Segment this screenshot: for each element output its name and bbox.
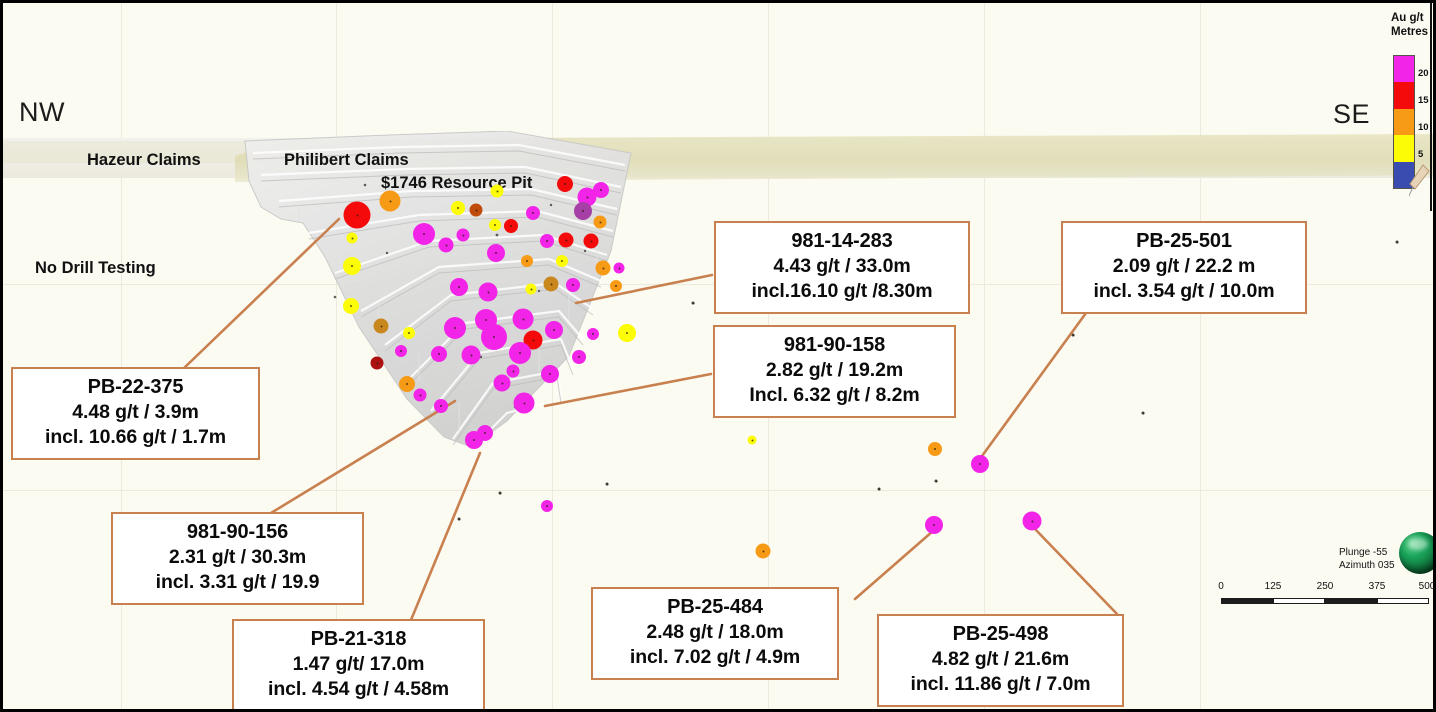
compass-plunge: Plunge -55: [1339, 547, 1387, 558]
scale-label-375: 375: [1369, 581, 1386, 592]
callout-title: PB-25-501: [1075, 228, 1293, 254]
drill-intercept-point: [559, 233, 574, 248]
callout-line2: 2.31 g/t / 30.3m: [125, 545, 350, 570]
callout-line2: 4.48 g/t / 3.9m: [25, 400, 246, 425]
legend-tick-15: 15: [1418, 95, 1429, 106]
callout-pb-22-375[interactable]: PB-22-375 4.48 g/t / 3.9m incl. 10.66 g/…: [11, 367, 260, 460]
drill-intercept-point: [489, 219, 501, 231]
callout-981-90-158[interactable]: 981-90-158 2.82 g/t / 19.2m Incl. 6.32 g…: [713, 325, 956, 418]
legend-title: Au g/t Metres: [1391, 11, 1428, 40]
compass-glint: [1408, 538, 1427, 550]
drill-intercept-point: [413, 223, 435, 245]
drill-intercept-point: [925, 516, 943, 534]
drill-intercept-point: [470, 204, 483, 217]
drill-intercept-point: [347, 233, 358, 244]
callout-line2: 2.48 g/t / 18.0m: [605, 620, 825, 645]
drill-intercept-point: [481, 324, 507, 350]
callout-pb-21-318[interactable]: PB-21-318 1.47 g/t/ 17.0m incl. 4.54 g/t…: [232, 619, 485, 712]
callout-line2: 1.47 g/t/ 17.0m: [246, 652, 471, 677]
callout-title: 981-90-156: [125, 519, 350, 545]
callout-line2: 4.82 g/t / 21.6m: [891, 647, 1110, 672]
drill-intercept-point: [596, 261, 611, 276]
section-figure: NW SE Hazeur Claims Philibert Claims $17…: [0, 0, 1436, 712]
drill-intercept-point: [439, 238, 454, 253]
drill-intercept-point: [572, 350, 586, 364]
legend-swatch-red: [1394, 82, 1414, 108]
drill-intercept-point: [374, 319, 389, 334]
scale-label-125: 125: [1265, 581, 1282, 592]
callout-981-90-156[interactable]: 981-90-156 2.31 g/t / 30.3m incl. 3.31 g…: [111, 512, 364, 605]
drill-intercept-point: [748, 436, 757, 445]
drill-intercept-point: [971, 455, 989, 473]
drill-intercept-point: [395, 345, 407, 357]
drill-intercept-point: [544, 277, 559, 292]
scale-segment: [1273, 598, 1325, 604]
drill-intercept-point: [487, 244, 505, 262]
drill-intercept-point: [545, 321, 563, 339]
legend-swatch-magenta: [1394, 56, 1414, 82]
drill-intercept-point: [462, 346, 481, 365]
drill-intercept-point: [431, 346, 447, 362]
callout-title: 981-14-283: [728, 228, 956, 254]
callout-title: PB-22-375: [25, 374, 246, 400]
scale-bar-labels: 0 125 250 375 500: [1217, 581, 1425, 595]
callout-pb-25-498[interactable]: PB-25-498 4.82 g/t / 21.6m incl. 11.86 g…: [877, 614, 1124, 707]
drill-intercept-point: [566, 278, 580, 292]
drill-intercept-point: [479, 283, 498, 302]
drill-intercept-point: [756, 544, 771, 559]
compass-sphere-icon: [1399, 532, 1436, 574]
callout-line3: incl. 3.54 g/t / 10.0m: [1075, 279, 1293, 304]
drill-intercept-point: [593, 182, 609, 198]
drill-intercept-point: [526, 284, 537, 295]
scale-segment: [1325, 598, 1377, 604]
scale-bar-segments: [1217, 598, 1425, 605]
drill-intercept-point: [403, 327, 415, 339]
drill-intercept-point: [457, 229, 470, 242]
drill-intercept-point: [526, 206, 540, 220]
callout-line3: incl. 7.02 g/t / 4.9m: [605, 645, 825, 670]
drill-intercept-point: [541, 365, 559, 383]
scale-label-250: 250: [1317, 581, 1334, 592]
scale-bar: 0 125 250 375 500: [1217, 581, 1425, 605]
drill-intercept-point: [610, 280, 622, 292]
callout-line2: 4.43 g/t / 33.0m: [728, 254, 956, 279]
callout-981-14-283[interactable]: 981-14-283 4.43 g/t / 33.0m incl.16.10 g…: [714, 221, 970, 314]
callout-line3: Incl. 6.32 g/t / 8.2m: [727, 383, 942, 408]
callout-line3: incl. 4.54 g/t / 4.58m: [246, 677, 471, 702]
drill-intercept-point: [494, 375, 511, 392]
drill-intercept-point: [556, 255, 568, 267]
drill-intercept-point: [399, 376, 415, 392]
callout-line3: incl. 3.31 g/t / 19.9: [125, 570, 350, 595]
callout-line3: incl. 10.66 g/t / 1.7m: [25, 425, 246, 450]
legend-title-line1: Au g/t: [1391, 12, 1424, 24]
callout-pb-25-501[interactable]: PB-25-501 2.09 g/t / 22.2 m incl. 3.54 g…: [1061, 221, 1307, 314]
callout-title: PB-25-484: [605, 594, 825, 620]
drill-intercept-point: [587, 328, 599, 340]
callout-line3: incl.16.10 g/t /8.30m: [728, 279, 956, 304]
drill-intercept-point: [434, 399, 448, 413]
drill-intercept-point: [344, 202, 371, 229]
drill-intercept-point: [594, 216, 607, 229]
drill-intercept-point: [509, 342, 531, 364]
legend-tick-10: 10: [1418, 122, 1429, 133]
legend-swatch-orange: [1394, 109, 1414, 135]
drill-intercept-point: [928, 442, 942, 456]
compass-azimuth: Azimuth 035: [1339, 560, 1395, 571]
drill-intercept-point: [513, 309, 534, 330]
drill-intercept-point: [450, 278, 468, 296]
drill-intercept-point: [414, 389, 427, 402]
drill-intercept-point: [343, 298, 359, 314]
drill-intercept-point: [541, 500, 553, 512]
callout-line2: 2.82 g/t / 19.2m: [727, 358, 942, 383]
drill-intercept-point: [343, 257, 361, 275]
scale-label-500: 500: [1419, 581, 1436, 592]
drill-intercept-point: [444, 317, 466, 339]
compass-orientation-text: Plunge -55 Azimuth 035: [1339, 546, 1395, 572]
drill-intercept-point: [514, 393, 535, 414]
callout-title: PB-25-498: [891, 621, 1110, 647]
legend-title-line2: Metres: [1391, 26, 1428, 38]
drill-intercept-point: [477, 425, 493, 441]
callout-title: PB-21-318: [246, 626, 471, 652]
drill-intercept-point: [618, 324, 636, 342]
drill-intercept-point: [540, 234, 554, 248]
legend-swatch-yellow: [1394, 135, 1414, 161]
scale-segment: [1377, 598, 1429, 604]
legend-tick-20: 20: [1418, 68, 1429, 79]
drill-intercept-point: [380, 191, 401, 212]
drill-intercept-point: [557, 176, 573, 192]
scale-label-0: 0: [1218, 581, 1224, 592]
drill-intercept-point: [451, 201, 465, 215]
callout-line3: incl. 11.86 g/t / 7.0m: [891, 672, 1110, 697]
legend-tick-5: 5: [1418, 149, 1423, 160]
drill-intercept-point: [614, 263, 625, 274]
scale-segment: [1221, 598, 1273, 604]
drill-intercept-point: [1023, 512, 1042, 531]
drill-intercept-point: [491, 185, 504, 198]
drill-intercept-point: [584, 234, 599, 249]
drill-intercept-point: [371, 357, 384, 370]
drill-intercept-point: [521, 255, 533, 267]
drill-intercept-point: [507, 365, 520, 378]
legend-pointer-icon: [1409, 163, 1431, 211]
callout-line2: 2.09 g/t / 22.2 m: [1075, 254, 1293, 279]
drill-intercept-point: [574, 202, 592, 220]
drill-intercept-point: [504, 219, 518, 233]
callout-title: 981-90-158: [727, 332, 942, 358]
callout-pb-25-484[interactable]: PB-25-484 2.48 g/t / 18.0m incl. 7.02 g/…: [591, 587, 839, 680]
